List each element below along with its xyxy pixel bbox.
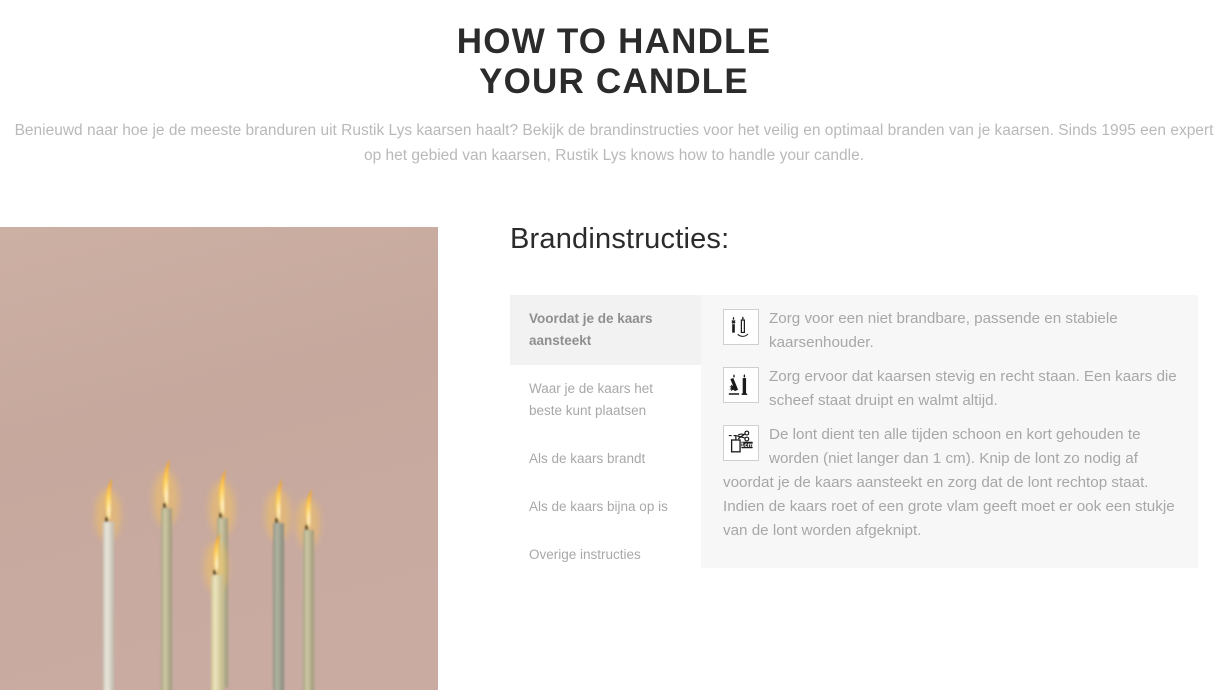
section-heading: Brandinstructies:: [510, 222, 1200, 256]
instruction-item: Zorg voor een niet brandbare, passende e…: [723, 307, 1185, 355]
instruction-text: De lont dient ten alle tijden schoon en …: [723, 426, 1175, 539]
tab-als-de-kaars-brandt[interactable]: Als de kaars brandt: [510, 435, 701, 483]
instruction-text: Zorg ervoor dat kaarsen stevig en recht …: [769, 368, 1177, 409]
instructions-tab-content: Zorg voor een niet brandbare, passende e…: [723, 307, 1185, 553]
instruction-text: Zorg voor een niet brandbare, passende e…: [769, 310, 1118, 351]
tab-voordat-je-de-kaars-aansteekt[interactable]: Voordat je de kaars aansteekt: [510, 295, 701, 365]
svg-text:1cm: 1cm: [741, 443, 753, 449]
instruction-item: Zorg ervoor dat kaarsen stevig en recht …: [723, 365, 1185, 413]
candle-upright-icon: [723, 367, 759, 403]
tab-label: Als de kaars bijna op is: [529, 499, 668, 514]
candle-holder-stable-icon: [723, 309, 759, 345]
tab-overige-instructies[interactable]: Overige instructies: [510, 531, 701, 579]
tab-waar-je-de-kaars-het-beste-kunt-plaatsen[interactable]: Waar je de kaars het beste kunt plaatsen: [510, 365, 701, 435]
instructions-section: Brandinstructies:: [510, 222, 1200, 256]
page-root: HOW TO HANDLE YOUR CANDLE Benieuwd naar …: [0, 0, 1228, 690]
candles-photo: [0, 227, 438, 690]
tab-label: Voordat je de kaars aansteekt: [529, 311, 653, 348]
page-title-line-2: YOUR CANDLE: [0, 62, 1228, 102]
tab-als-de-kaars-bijna-op-is[interactable]: Als de kaars bijna op is: [510, 483, 701, 531]
candles-photo-illustration: [0, 227, 438, 690]
tab-label: Als de kaars brandt: [529, 451, 645, 466]
instructions-tabs-widget: Voordat je de kaars aansteekt Waar je de…: [510, 295, 1198, 568]
page-title: HOW TO HANDLE YOUR CANDLE: [0, 22, 1228, 102]
instruction-item: 1cm De lont dient ten alle tijden schoon…: [723, 423, 1185, 543]
tab-label: Waar je de kaars het beste kunt plaatsen: [529, 381, 653, 418]
page-title-line-1: HOW TO HANDLE: [0, 22, 1228, 62]
wick-trim-scissors-icon: 1cm: [723, 425, 759, 461]
tab-label: Overige instructies: [529, 547, 641, 562]
page-subtitle: Benieuwd naar hoe je de meeste branduren…: [8, 118, 1220, 168]
instructions-tab-list: Voordat je de kaars aansteekt Waar je de…: [510, 295, 701, 579]
